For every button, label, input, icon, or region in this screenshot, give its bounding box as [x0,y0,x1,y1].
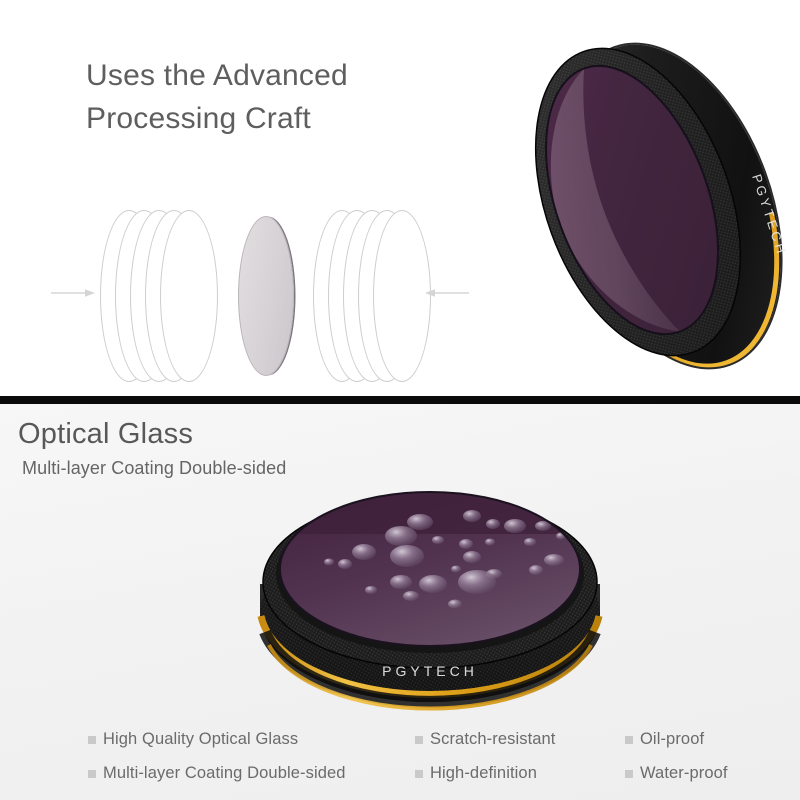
feature-label: Scratch-resistant [430,730,556,749]
feature-item: Scratch-resistant [415,730,556,749]
top-heading: Uses the Advanced Processing Craft [86,55,416,140]
bullet-square-icon [88,770,96,778]
feature-label: Oil-proof [640,730,704,749]
bullet-square-icon [415,770,423,778]
product-marketing-page: Uses the Advanced Processing Craft [0,0,800,800]
feature-item: Oil-proof [625,730,704,749]
bullet-square-icon [88,736,96,744]
feature-label: High-definition [430,764,537,783]
feature-label: Water-proof [640,764,728,783]
coating-stack-right [313,210,431,382]
feature-item: Multi-layer Coating Double-sided [88,764,346,783]
coating-layer-ellipse [160,210,218,382]
bullet-square-icon [625,736,633,744]
feature-label: Multi-layer Coating Double-sided [103,764,346,783]
coating-stack-left [100,210,218,382]
coating-layer-ellipse [373,210,431,382]
feature-item: High-definition [415,764,537,783]
top-section: Uses the Advanced Processing Craft [0,0,800,396]
coating-diagram [45,196,475,396]
arrow-right-icon [51,288,95,298]
brand-text-bottom: PGYTECH [382,663,478,679]
section-divider [0,396,800,404]
bullet-square-icon [625,770,633,778]
bottom-heading: Optical Glass [18,418,193,451]
arrow-left-icon [425,288,469,298]
bullet-square-icon [415,736,423,744]
feature-list: High Quality Optical Glass Multi-layer C… [88,730,788,794]
optical-glass-element [238,216,294,376]
feature-label: High Quality Optical Glass [103,730,298,749]
feature-item: Water-proof [625,764,728,783]
product-photo-angled: PGYTECH [520,6,800,396]
product-photo-droplets: PGYTECH [225,464,635,719]
feature-item: High Quality Optical Glass [88,730,298,749]
